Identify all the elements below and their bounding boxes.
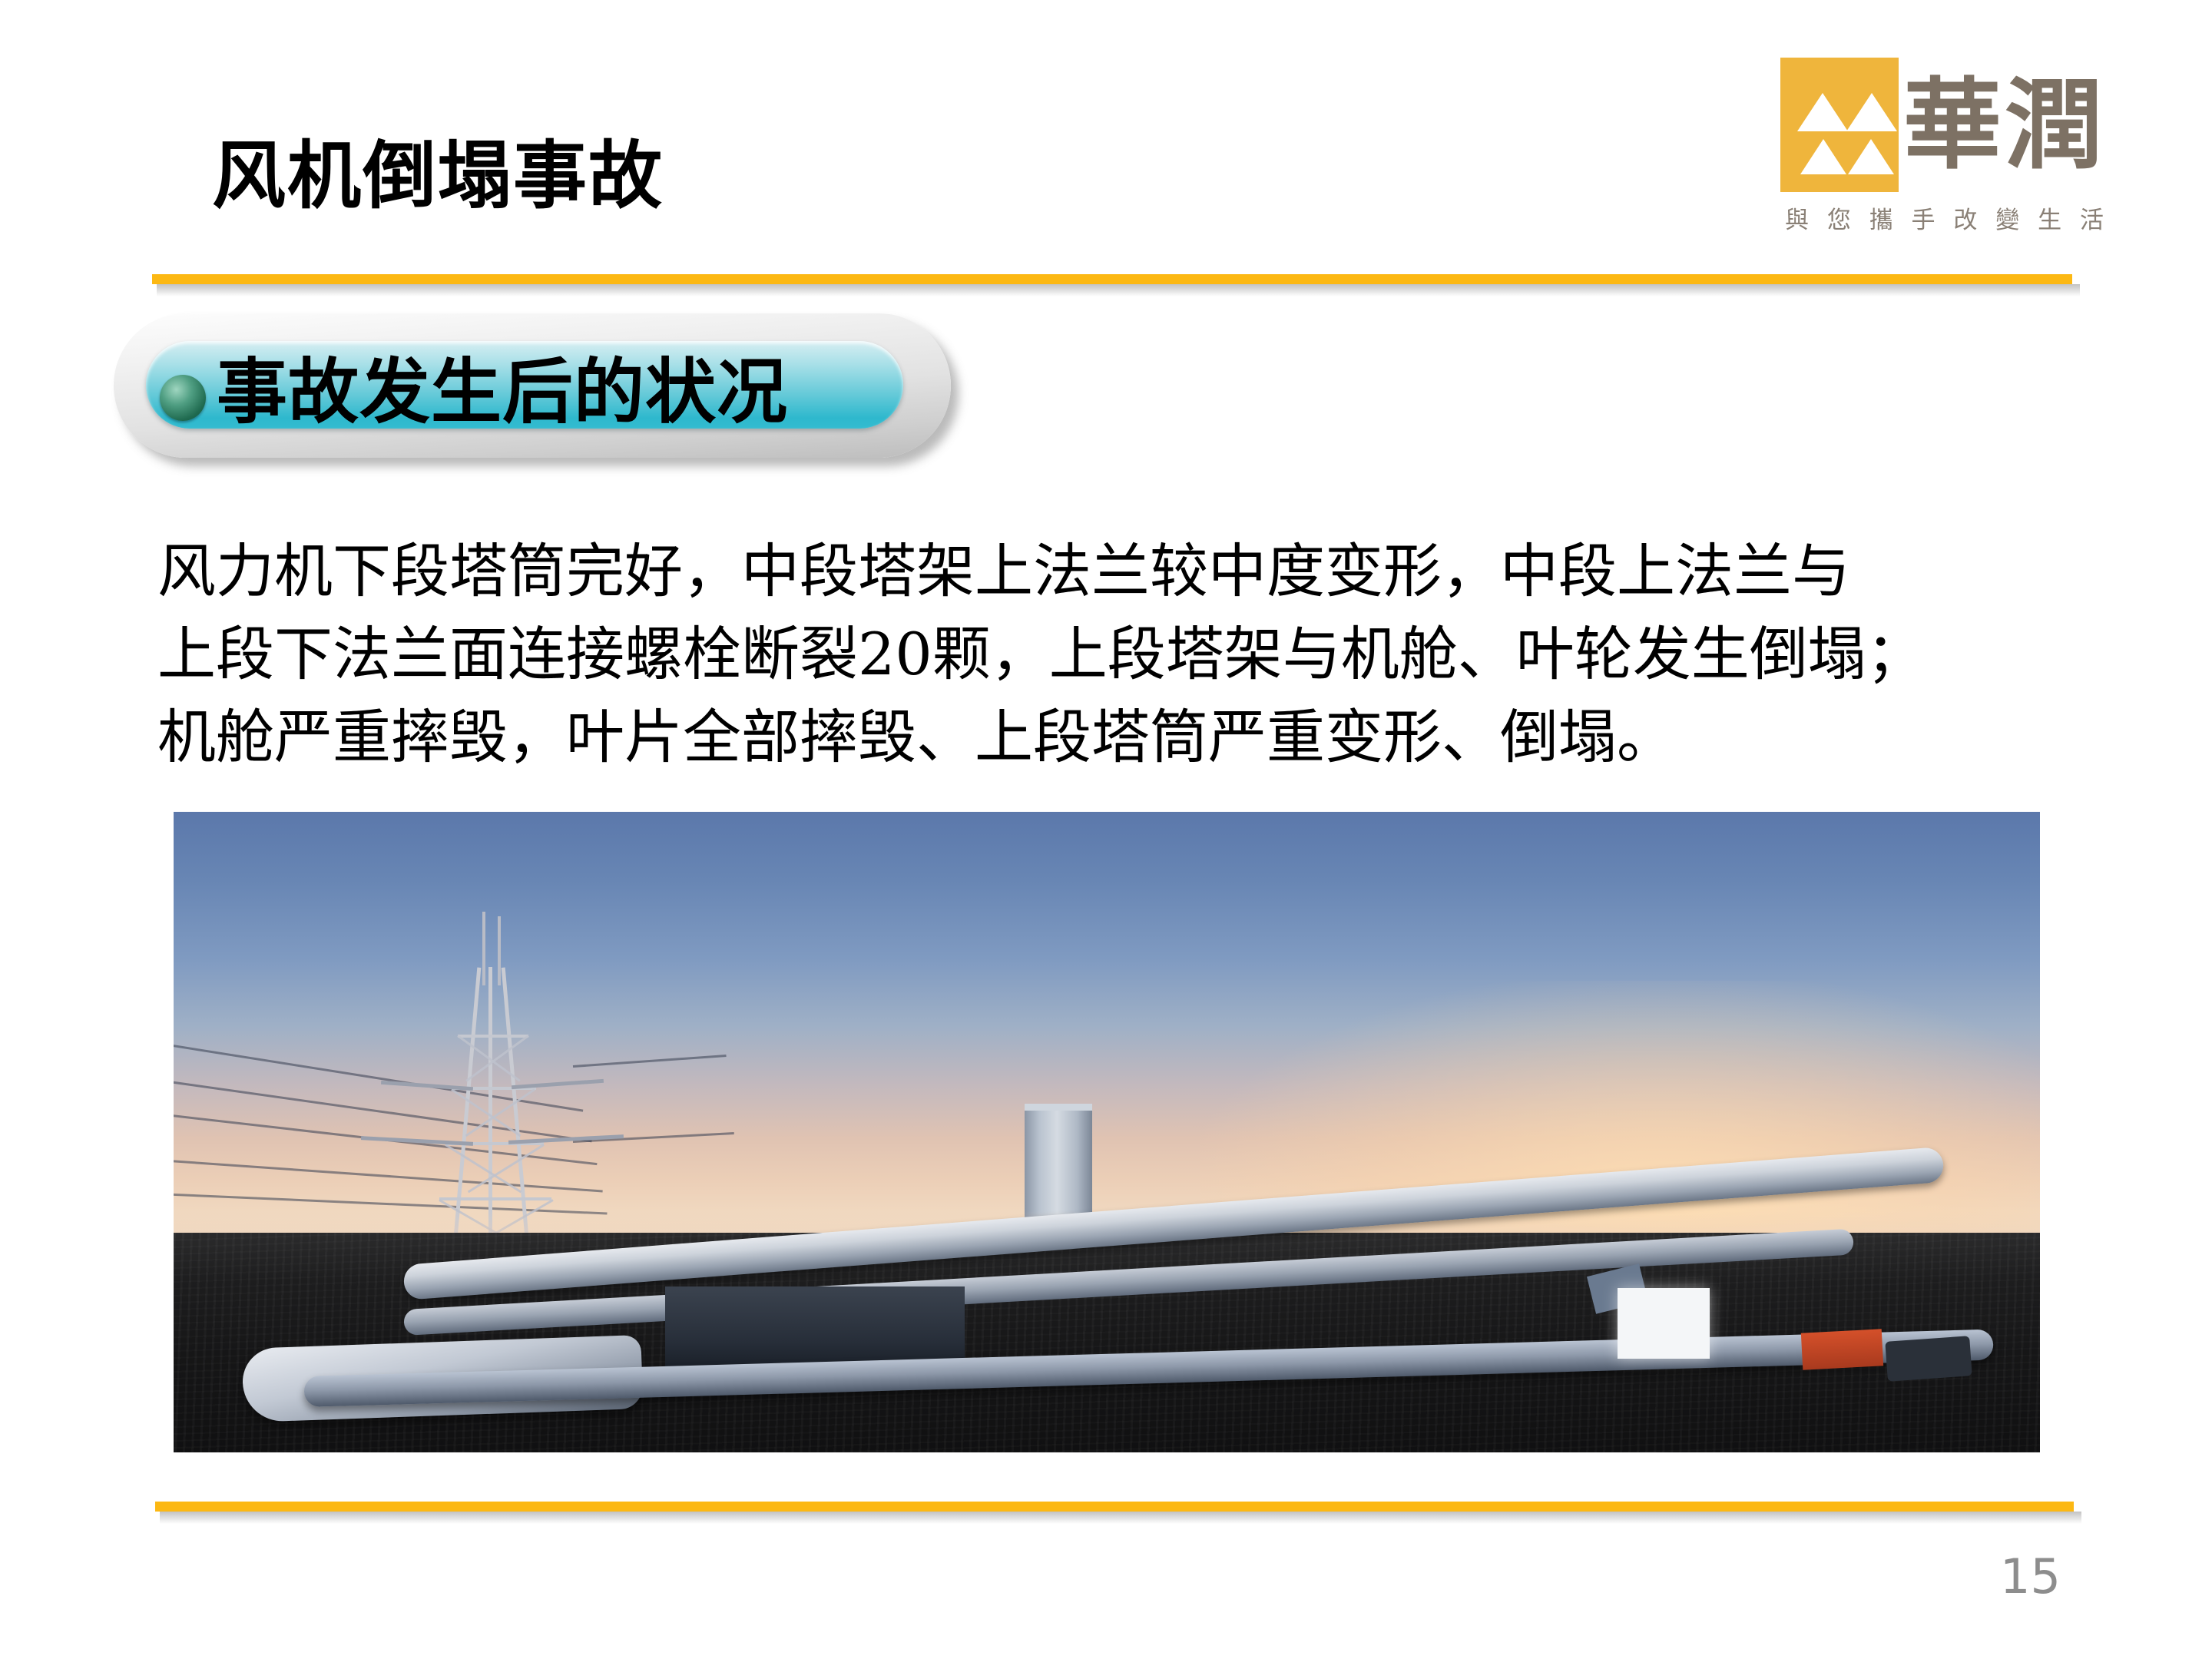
body-paragraph: 风力机下段塔筒完好，中段塔架上法兰较中度变形，中段上法兰与 上段下法兰面连接螺栓… (157, 530, 2055, 779)
debris-fragment-orange (1801, 1329, 1883, 1369)
body-line-3: 机舱严重摔毁，叶片全部摔毁、上段塔筒严重变形、倒塌。 (157, 696, 2055, 779)
body-line-1: 风力机下段塔筒完好，中段塔架上法兰较中度变形，中段上法兰与 (157, 530, 2055, 613)
logo-mark-icon (1780, 58, 1899, 192)
debris-fragment-dark (1885, 1336, 1972, 1382)
logo-tagline: 與 您 攜 手 改 變 生 活 (1785, 200, 2085, 235)
page-number: 15 (2000, 1548, 2092, 1604)
section-callout-inner: 事故发生后的状况 (146, 341, 903, 429)
page-title: 风机倒塌事故 (212, 134, 664, 218)
green-gem-bullet-icon (160, 375, 206, 421)
accident-photo (174, 812, 2040, 1452)
title-divider-top (152, 274, 2072, 284)
logo-wordmark: 華潤 (1903, 68, 2084, 182)
debris-fragment-bright (1618, 1288, 1710, 1359)
body-line-2: 上段下法兰面连接螺栓断裂20颗，上段塔架与机舱、叶轮发生倒塌； (157, 613, 2055, 696)
section-callout-label: 事故发生后的状况 (217, 349, 788, 435)
company-logo: 華潤 與 您 攜 手 改 變 生 活 (1780, 58, 2088, 257)
footer-divider (155, 1502, 2074, 1512)
section-callout: 事故发生后的状况 (114, 313, 951, 458)
slide-canvas: 華潤 與 您 攜 手 改 變 生 活 风机倒塌事故 事故发生后的状况 风力机下段… (0, 0, 2212, 1659)
